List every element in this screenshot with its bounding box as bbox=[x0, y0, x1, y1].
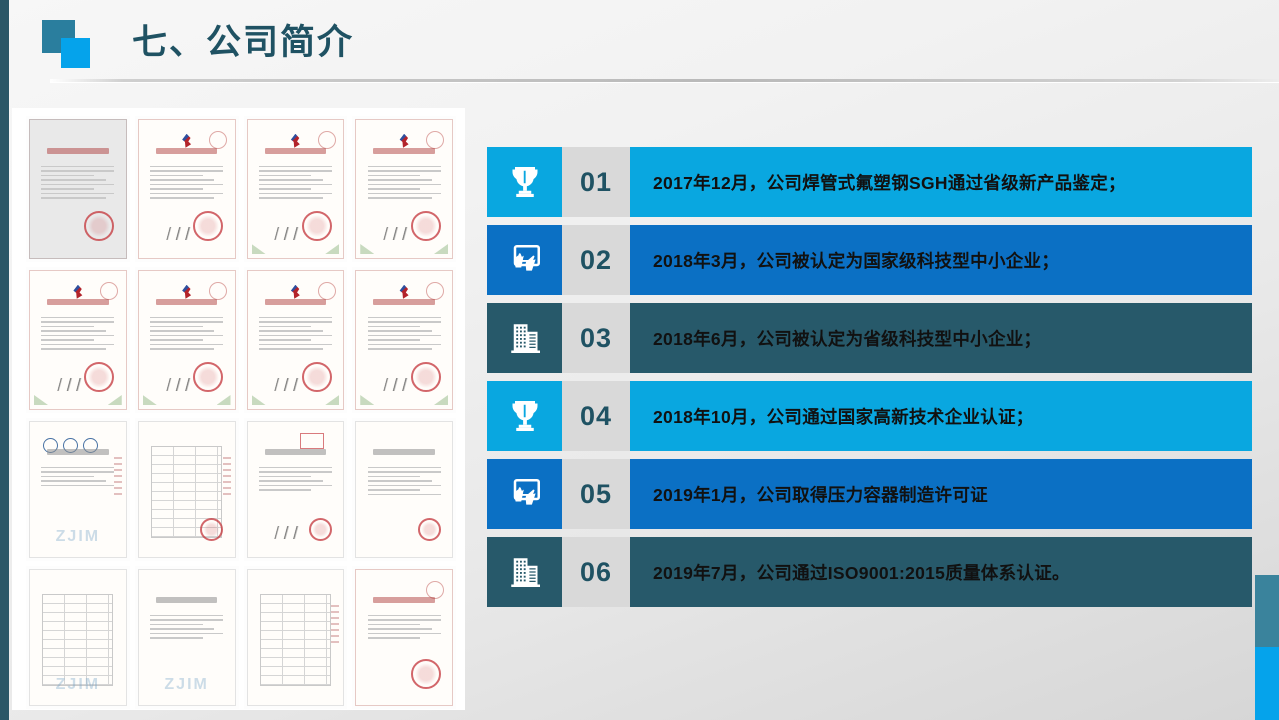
trophy-icon bbox=[505, 162, 545, 202]
certificate-thumbnail[interactable] bbox=[26, 116, 130, 262]
certificate-watermark: ZJIM bbox=[30, 528, 126, 546]
certificates-grid: ZJIM bbox=[26, 116, 456, 709]
certificate-thumbnail[interactable] bbox=[244, 418, 348, 561]
certificate-thumbnail[interactable]: ZJIM bbox=[26, 418, 130, 561]
milestone-row[interactable]: 02 2018年3月，公司被认定为国家级科技型中小企业； bbox=[487, 225, 1252, 295]
milestone-text: 2017年12月，公司焊管式氟塑钢SGH通过省级新产品鉴定； bbox=[630, 147, 1252, 217]
slide-header: 七、公司简介 bbox=[0, 0, 1279, 90]
certificate-thumbnail[interactable] bbox=[135, 116, 239, 262]
certificate-watermark: ZJIM bbox=[139, 676, 235, 694]
certificate-thumbnail[interactable] bbox=[352, 116, 456, 262]
milestone-row[interactable]: 01 2017年12月，公司焊管式氟塑钢SGH通过省级新产品鉴定； bbox=[487, 147, 1252, 217]
page-title: 七、公司简介 bbox=[132, 14, 354, 65]
milestone-row[interactable]: 06 2019年7月，公司通过ISO9001:2015质量体系认证。 bbox=[487, 537, 1252, 607]
certificate-thumbnail[interactable] bbox=[135, 418, 239, 561]
certificate-thumbnail[interactable] bbox=[135, 267, 239, 413]
milestone-number: 01 bbox=[562, 147, 630, 217]
milestone-icon-box bbox=[487, 381, 562, 451]
tablet-hands-icon bbox=[505, 240, 545, 280]
milestone-icon-box bbox=[487, 147, 562, 217]
certificates-panel: ZJIM bbox=[12, 108, 465, 710]
tablet-hands-icon bbox=[505, 474, 545, 514]
milestone-row[interactable]: 03 2018年6月，公司被认定为省级科技型中小企业； bbox=[487, 303, 1252, 373]
milestone-number: 04 bbox=[562, 381, 630, 451]
milestones-list: 01 2017年12月，公司焊管式氟塑钢SGH通过省级新产品鉴定； 02 201… bbox=[487, 147, 1252, 615]
milestone-icon-box bbox=[487, 303, 562, 373]
milestone-number: 02 bbox=[562, 225, 630, 295]
certificate-thumbnail[interactable] bbox=[352, 418, 456, 561]
milestone-icon-box bbox=[487, 459, 562, 529]
milestone-number: 03 bbox=[562, 303, 630, 373]
milestone-number: 06 bbox=[562, 537, 630, 607]
certificate-thumbnail[interactable] bbox=[244, 116, 348, 262]
milestone-row[interactable]: 05 2019年1月，公司取得压力容器制造许可证 bbox=[487, 459, 1252, 529]
milestone-text: 2018年3月，公司被认定为国家级科技型中小企业； bbox=[630, 225, 1252, 295]
milestone-text: 2018年10月，公司通过国家高新技术企业认证； bbox=[630, 381, 1252, 451]
building-icon bbox=[505, 318, 545, 358]
corner-accent-teal bbox=[1255, 575, 1279, 647]
building-icon bbox=[505, 552, 545, 592]
left-edge-accent-bar bbox=[0, 0, 9, 720]
header-divider bbox=[50, 79, 1279, 82]
certificate-thumbnail[interactable]: ZJIM bbox=[26, 566, 130, 709]
milestone-row[interactable]: 04 2018年10月，公司通过国家高新技术企业认证； bbox=[487, 381, 1252, 451]
milestone-icon-box bbox=[487, 225, 562, 295]
slide-root: 七、公司简介 bbox=[0, 0, 1279, 720]
milestone-text: 2018年6月，公司被认定为省级科技型中小企业； bbox=[630, 303, 1252, 373]
milestone-icon-box bbox=[487, 537, 562, 607]
certificate-thumbnail[interactable]: ZJIM bbox=[135, 566, 239, 709]
decorative-square-light bbox=[61, 38, 90, 68]
certificate-thumbnail[interactable] bbox=[352, 566, 456, 709]
milestone-text: 2019年1月，公司取得压力容器制造许可证 bbox=[630, 459, 1252, 529]
certificate-thumbnail[interactable] bbox=[244, 267, 348, 413]
milestone-number: 05 bbox=[562, 459, 630, 529]
milestone-text: 2019年7月，公司通过ISO9001:2015质量体系认证。 bbox=[630, 537, 1252, 607]
certificate-thumbnail[interactable] bbox=[352, 267, 456, 413]
certificate-thumbnail[interactable] bbox=[244, 566, 348, 709]
certificate-thumbnail[interactable] bbox=[26, 267, 130, 413]
certificate-watermark: ZJIM bbox=[30, 676, 126, 694]
trophy-icon bbox=[505, 396, 545, 436]
corner-accent-cyan bbox=[1255, 647, 1279, 720]
